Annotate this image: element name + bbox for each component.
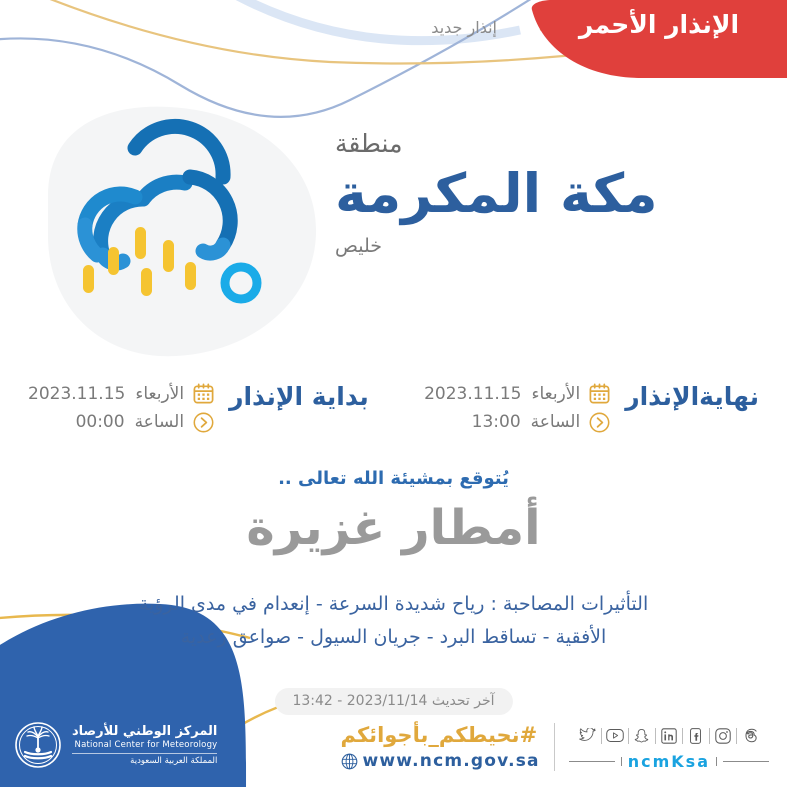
alert-times-row: بداية الإنذار bbox=[0, 378, 787, 450]
calendar-icon bbox=[588, 382, 611, 405]
alert-start-date: 2023.11.15 bbox=[28, 384, 125, 404]
website-url[interactable]: www.ncm.gov.sa bbox=[363, 751, 540, 771]
alert-end-values: الأربعاء 2023.11.15 الساعة 13:00 bbox=[424, 384, 580, 432]
region-heading: منطقة مكة المكرمة خليص bbox=[335, 130, 755, 257]
globe-icon bbox=[341, 753, 358, 770]
brand-column: #نحيطكم_بأجوائكم www.ncm.gov.sa bbox=[341, 723, 540, 771]
twitter-icon[interactable] bbox=[575, 724, 601, 748]
alert-start-time-label: الساعة bbox=[135, 412, 185, 432]
footer-vertical-divider bbox=[554, 723, 555, 771]
social-separator bbox=[655, 728, 656, 744]
handle-tick-left bbox=[716, 757, 717, 766]
alert-start-values: الأربعاء 2023.11.15 الساعة 00:00 bbox=[28, 384, 184, 432]
last-update-badge: آخر تحديث 2023/11/14 - 13:42 bbox=[274, 688, 512, 715]
impacts-block: التأثيرات المصاحبة : رياح شديدة السرعة -… bbox=[0, 588, 787, 655]
facebook-icon[interactable] bbox=[683, 724, 709, 748]
social-separator bbox=[709, 728, 710, 744]
impacts-line-1: التأثيرات المصاحبة : رياح شديدة السرعة -… bbox=[0, 588, 787, 621]
ncm-logo-kingdom: المملكة العربية السعودية bbox=[72, 756, 217, 767]
alert-start-time-line: الساعة 00:00 bbox=[28, 412, 184, 432]
alert-end-day: الأربعاء bbox=[531, 384, 580, 404]
heavy-rain-cloud-icon bbox=[25, 105, 325, 370]
region-name: مكة المكرمة bbox=[335, 160, 755, 228]
clock-chevron-icon bbox=[192, 411, 215, 434]
social-separator bbox=[682, 728, 683, 744]
ncm-logo-arabic: المركز الوطني للأرصاد bbox=[72, 724, 217, 740]
social-handle: ncmKsa bbox=[628, 752, 710, 771]
social-icon-row bbox=[575, 724, 763, 748]
alert-end-time: 13:00 bbox=[472, 412, 521, 432]
weather-alert-card: الإنذار الأحمر إنذار جديد من bbox=[0, 0, 787, 787]
handle-tick-right bbox=[621, 757, 622, 766]
social-separator bbox=[601, 728, 602, 744]
alert-start-title: بداية الإنذار bbox=[229, 382, 369, 411]
alert-start-day: الأربعاء bbox=[135, 384, 184, 404]
social-separator bbox=[628, 728, 629, 744]
ncm-logo: المركز الوطني للأرصاد National Center fo… bbox=[14, 717, 226, 773]
campaign-hashtag: #نحيطكم_بأجوائكم bbox=[341, 723, 538, 747]
handle-rule-right bbox=[569, 761, 615, 762]
ncm-logo-text: المركز الوطني للأرصاد National Center fo… bbox=[72, 724, 217, 767]
alert-end-title: نهايةالإنذار bbox=[625, 382, 759, 411]
new-alert-label: إنذار جديد bbox=[431, 18, 497, 37]
region-kicker: منطقة bbox=[335, 130, 755, 158]
instagram-icon[interactable] bbox=[710, 724, 736, 748]
saudi-emblem-icon bbox=[14, 721, 62, 769]
alert-start-time: 00:00 bbox=[76, 412, 125, 432]
alert-end-date: 2023.11.15 bbox=[424, 384, 521, 404]
rain-cloud-graphic bbox=[25, 105, 325, 370]
impacts-line-2: الأفقية - تساقط البرد - جريان السيول - ص… bbox=[0, 621, 787, 654]
threads-icon[interactable] bbox=[737, 724, 763, 748]
ncm-logo-english: National Center for Meteorology bbox=[72, 740, 217, 751]
alert-start-block: بداية الإنذار bbox=[28, 378, 369, 450]
youtube-icon[interactable] bbox=[602, 724, 628, 748]
alert-end-block: نهايةالإنذار bbox=[424, 378, 759, 450]
handle-rule-left bbox=[723, 761, 769, 762]
snapchat-icon[interactable] bbox=[629, 724, 655, 748]
linkedin-icon[interactable] bbox=[656, 724, 682, 748]
alert-level-label: الإنذار الأحمر bbox=[549, 10, 769, 39]
social-links: ncmKsa bbox=[569, 724, 769, 771]
alert-end-icons bbox=[588, 382, 611, 434]
alert-end-time-label: الساعة bbox=[531, 412, 581, 432]
social-separator bbox=[736, 728, 737, 744]
calendar-icon bbox=[192, 382, 215, 405]
clock-chevron-icon bbox=[588, 411, 611, 434]
alert-start-icons bbox=[192, 382, 215, 434]
forecast-intro: يُتوقع بمشيئة الله تعالى .. bbox=[0, 468, 787, 489]
footer-contact-bar: ncmKsa #نحيطكم_بأجوائكم www.ncm.gov.sa bbox=[341, 723, 770, 771]
alert-end-date-line: الأربعاء 2023.11.15 bbox=[424, 384, 580, 404]
alert-level-banner: الإنذار الأحمر bbox=[522, 0, 787, 78]
alert-start-date-line: الأربعاء 2023.11.15 bbox=[28, 384, 184, 404]
forecast-main-text: أمطار غزيرة bbox=[0, 500, 787, 556]
logo-divider bbox=[72, 753, 217, 754]
social-handle-row: ncmKsa bbox=[569, 752, 769, 771]
website-row[interactable]: www.ncm.gov.sa bbox=[341, 751, 540, 771]
alert-end-time-line: الساعة 13:00 bbox=[424, 412, 580, 432]
region-city: خليص bbox=[335, 235, 755, 257]
